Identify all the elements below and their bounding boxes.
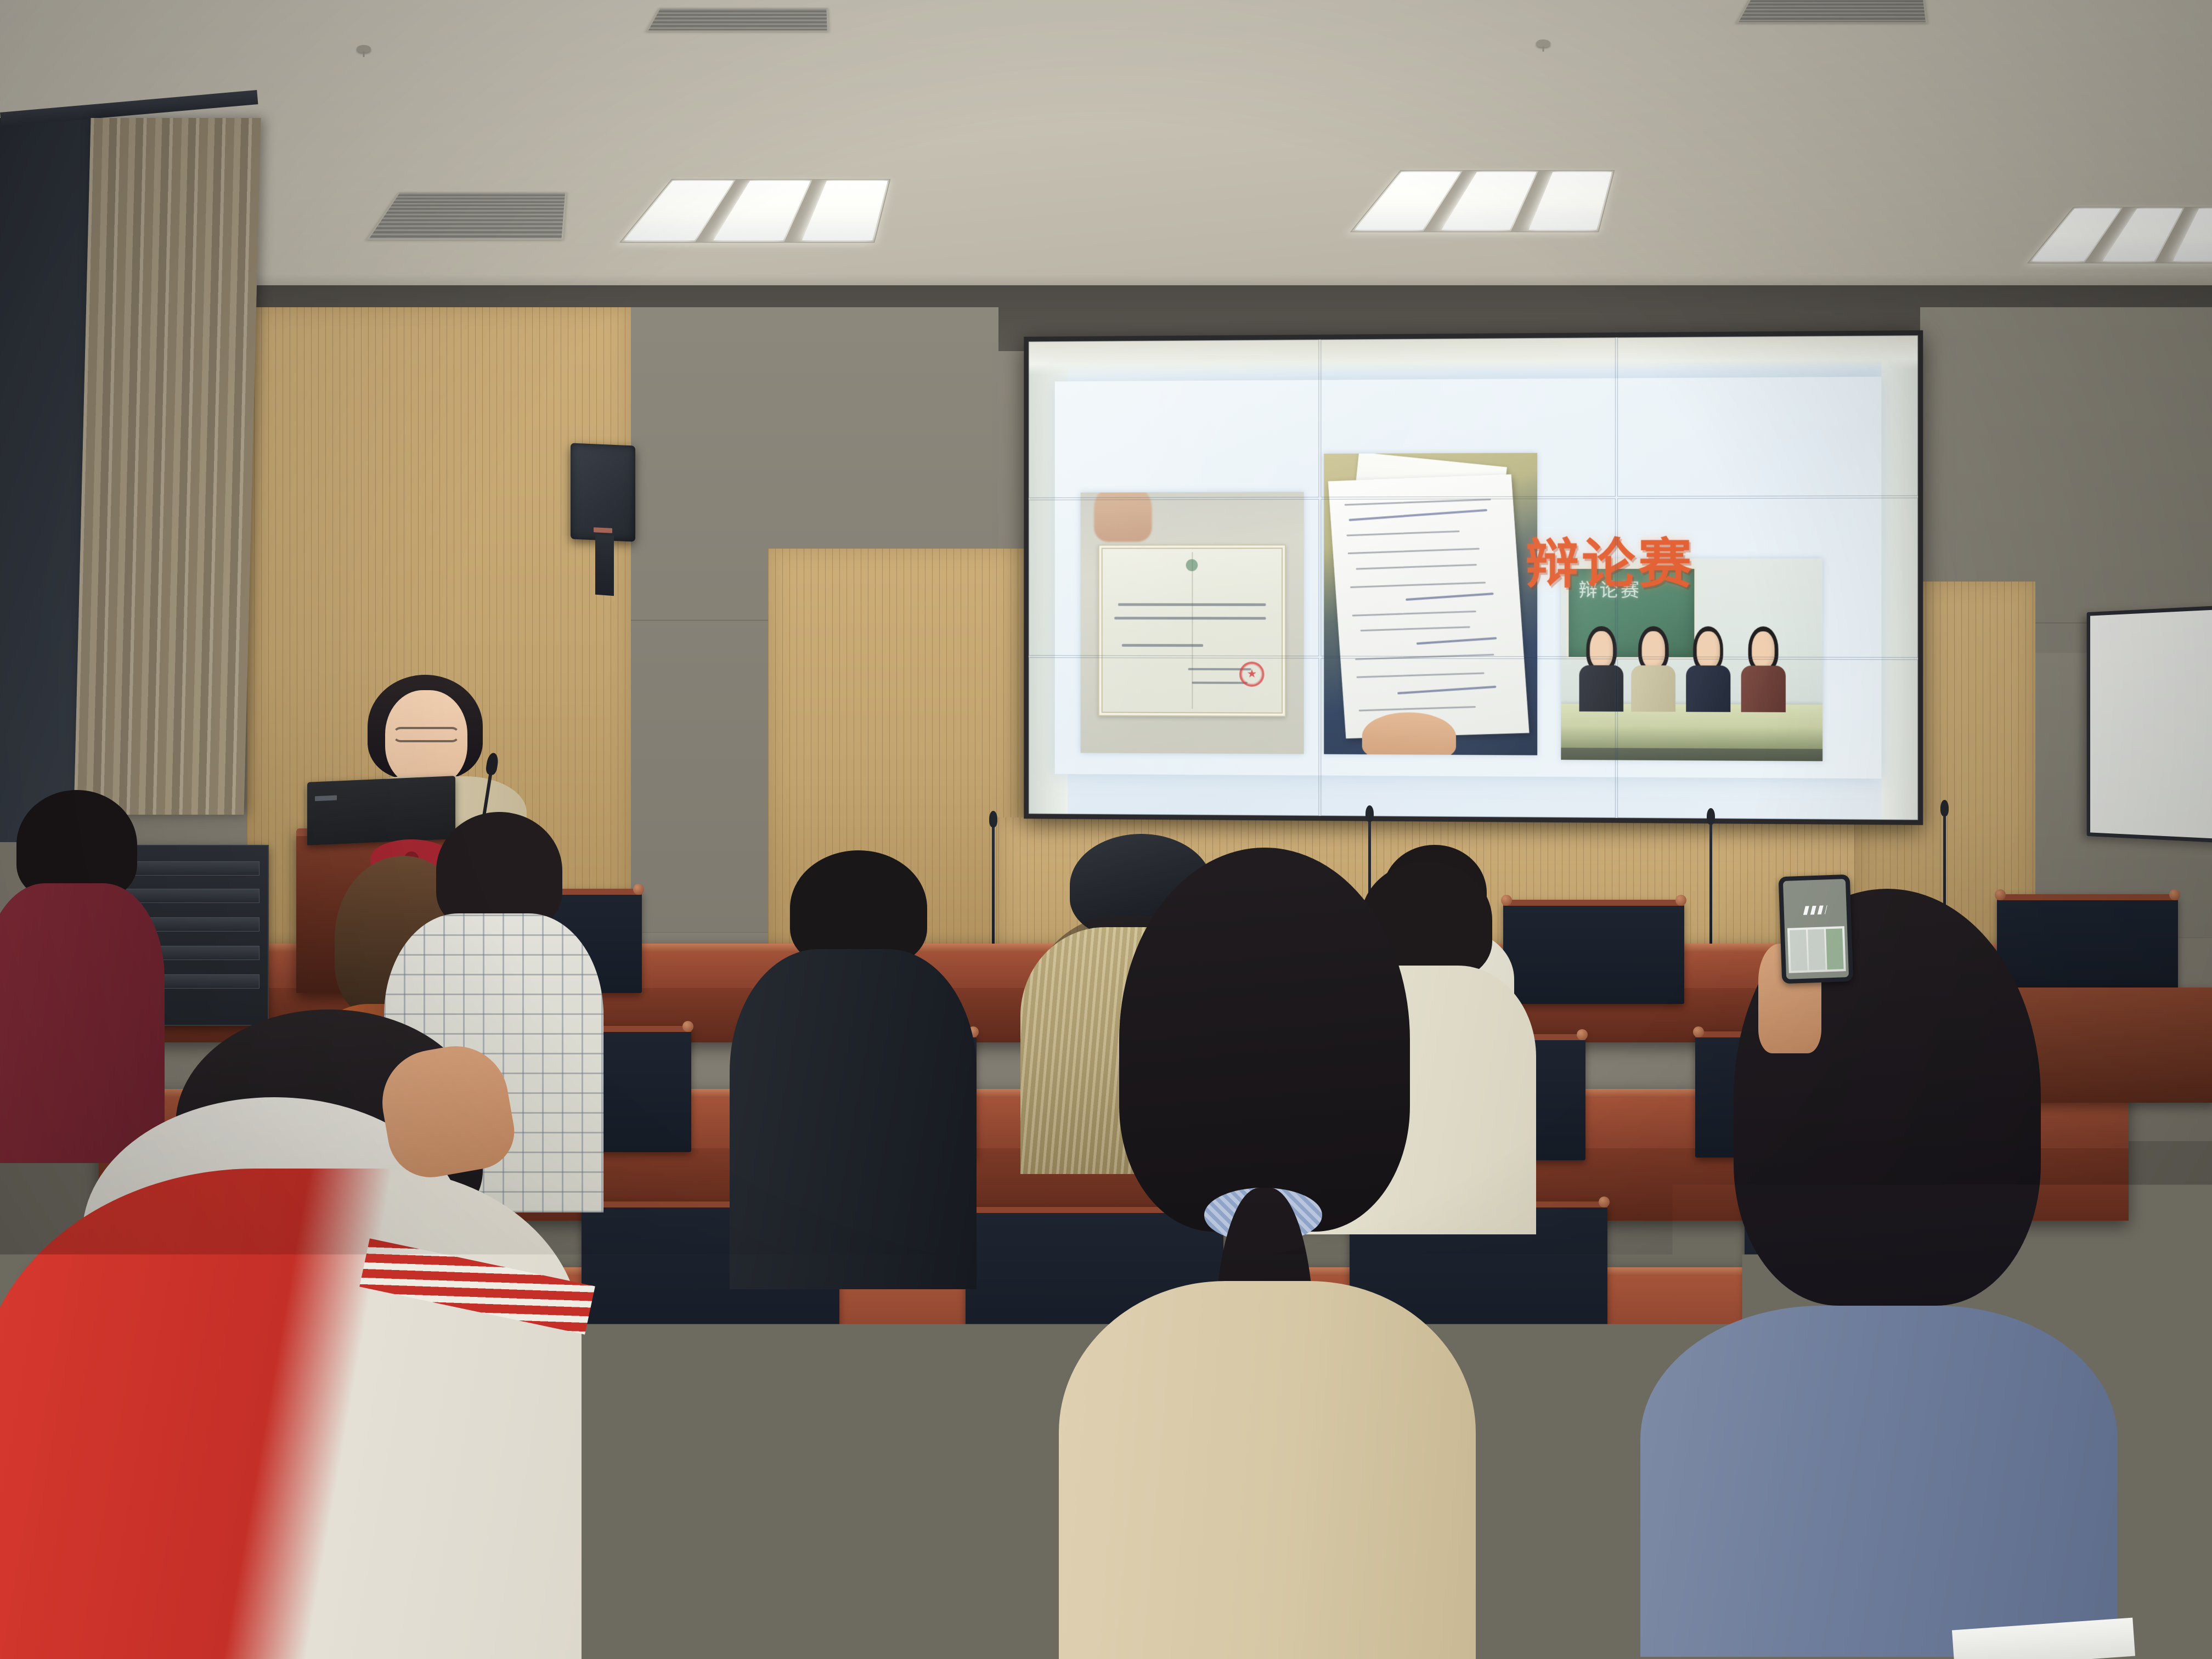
slanted-bars-icon	[1803, 905, 1827, 915]
desk-microphone-left	[992, 823, 995, 960]
speaker-brand-badge	[594, 527, 612, 533]
video-wall-panel	[1321, 498, 1616, 657]
video-wall-panel	[1029, 657, 1319, 816]
smartphone[interactable]	[1779, 874, 1854, 984]
video-wall[interactable]: 辩论赛	[1024, 330, 1923, 825]
video-wall-panel	[1321, 337, 1616, 497]
laptop-logo	[315, 795, 337, 802]
smoke-detector-right	[1536, 39, 1550, 47]
ceiling-duct-top-right	[1736, 0, 1927, 23]
yellow-notebook	[1993, 1543, 2212, 1659]
audience-blue-puffer-phone	[1640, 889, 2118, 1657]
window-curtain	[74, 118, 261, 815]
smoke-detector-left	[357, 45, 371, 53]
air-vent-left	[366, 192, 567, 240]
video-wall-panel	[1029, 499, 1319, 656]
wall-speaker	[571, 443, 635, 541]
audience-red-varsity-jacket	[0, 933, 582, 1659]
video-wall-panel	[1321, 658, 1616, 818]
video-wall-panel	[1029, 340, 1319, 498]
whiteboard	[2087, 606, 2212, 843]
audience-ponytail-cream-coat	[1059, 848, 1476, 1659]
video-wall-panel	[1617, 659, 1918, 820]
phone-preview-thumbnails	[1787, 926, 1846, 973]
video-wall-panel	[1617, 335, 1918, 496]
presenter-glasses	[393, 727, 460, 742]
air-vent-center	[646, 8, 829, 31]
phone-camera-preview[interactable]	[1783, 879, 1849, 979]
video-wall-panels: 辩论赛	[1029, 335, 1918, 820]
video-wall-panel	[1617, 498, 1918, 658]
speaker-mount-bracket	[595, 534, 614, 596]
ceiling	[0, 0, 2212, 307]
audience-dark-jacket	[730, 850, 977, 1289]
lecture-hall-scene: 辩论赛	[0, 0, 2212, 1659]
